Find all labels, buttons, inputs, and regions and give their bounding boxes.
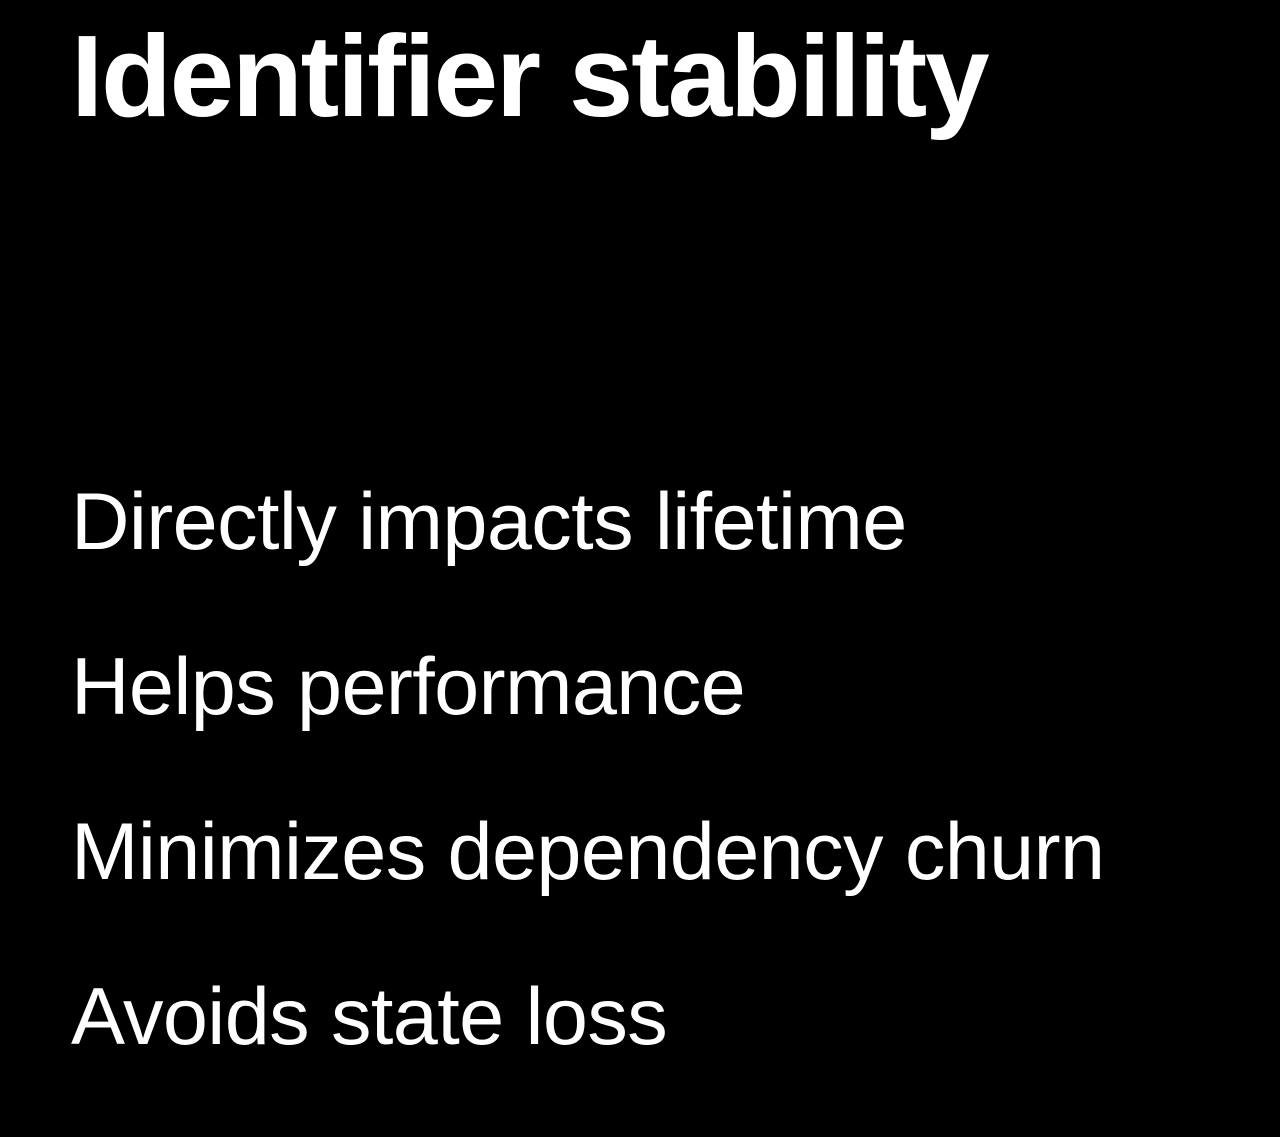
list-item: Directly impacts lifetime <box>71 440 1221 605</box>
slide-title: Identifier stability <box>71 10 987 142</box>
list-item: Avoids state loss <box>71 935 1221 1100</box>
bullet-list: Directly impacts lifetime Helps performa… <box>71 440 1221 1100</box>
list-item: Minimizes dependency churn <box>71 770 1221 935</box>
presentation-slide: Identifier stability Directly impacts li… <box>0 0 1280 1137</box>
list-item: Helps performance <box>71 605 1221 770</box>
